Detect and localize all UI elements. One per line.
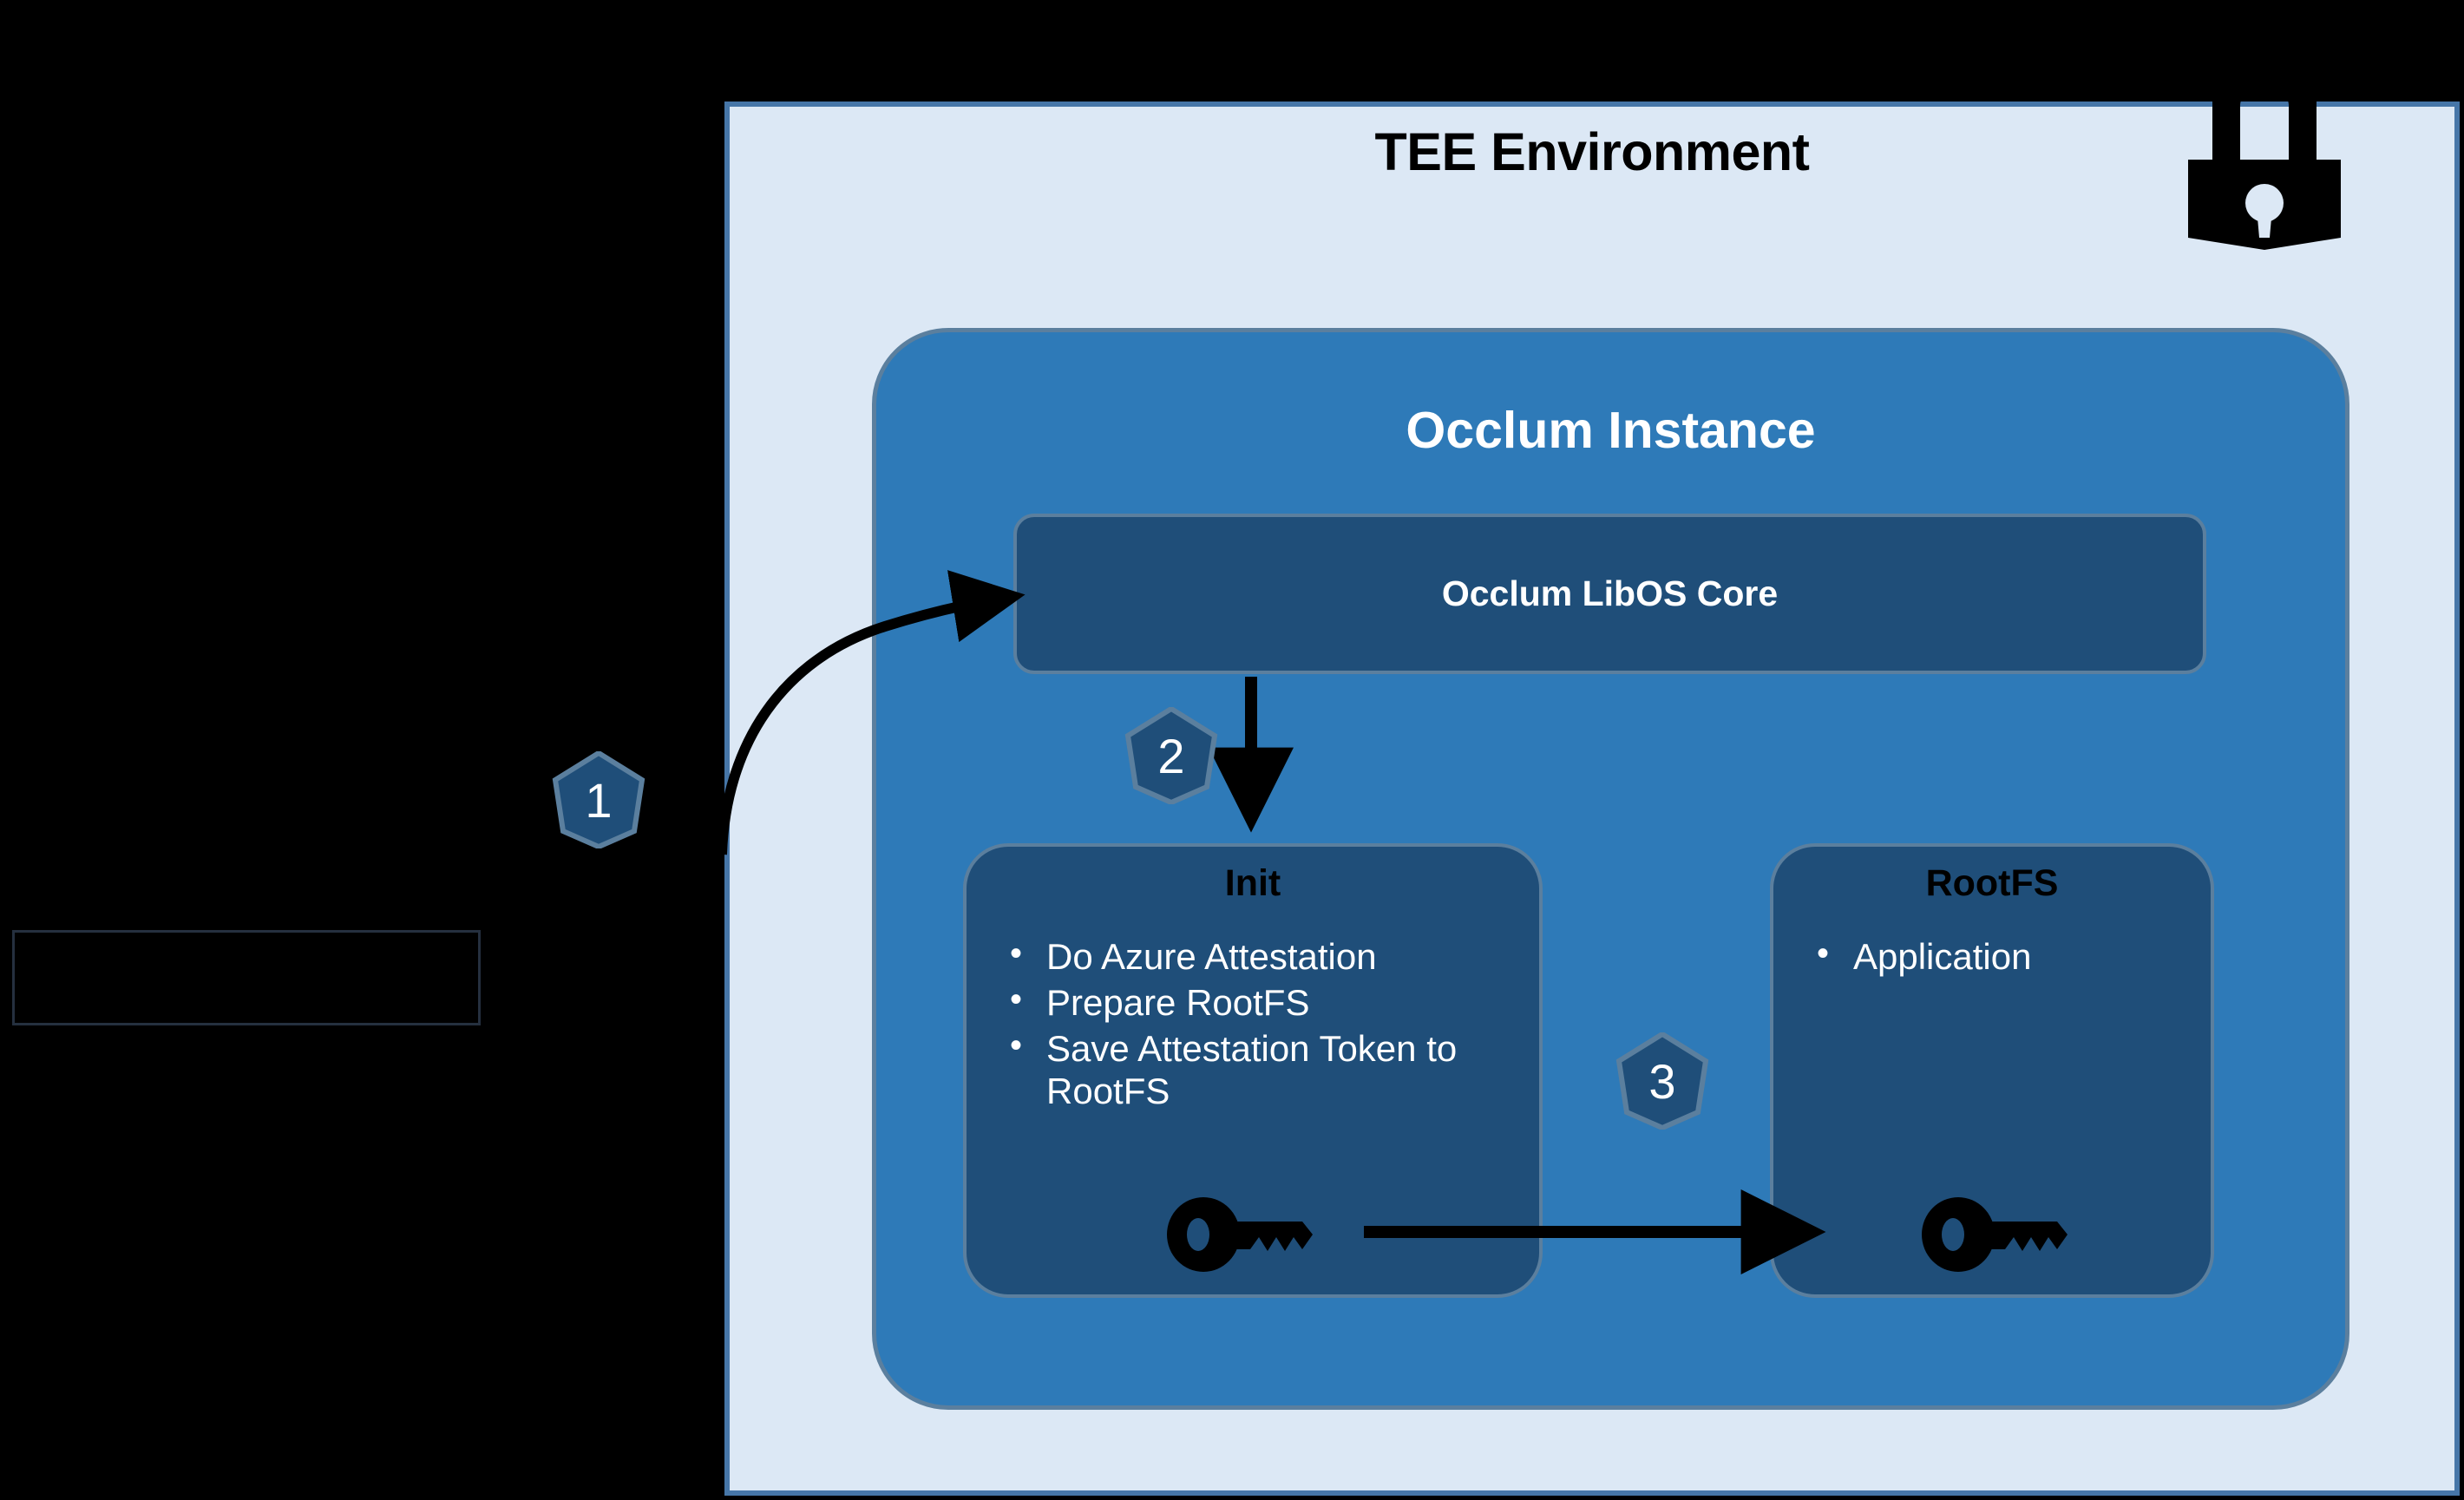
empty-outlined-rectangle — [12, 930, 481, 1025]
diagram-canvas: TEE Environment Occlum Instance Occlum L… — [0, 0, 2464, 1500]
rootfs-title: RootFS — [1770, 862, 2214, 905]
padlock-icon — [2169, 76, 2360, 260]
list-item: Application — [1803, 935, 2211, 978]
step-badge-3: 3 — [1612, 1032, 1713, 1130]
occlum-instance-title: Occlum Instance — [872, 401, 2349, 460]
step-badge-2: 2 — [1121, 707, 1222, 804]
step-badge-1-label: 1 — [548, 751, 649, 848]
list-item: Prepare RootFS — [996, 981, 1525, 1024]
step-badge-2-label: 2 — [1121, 707, 1222, 804]
key-icon — [1167, 1197, 1323, 1272]
init-title: Init — [963, 862, 1543, 905]
list-item: Do Azure Attestation — [996, 935, 1525, 978]
occlum-libos-core-title: Occlum LibOS Core — [1442, 573, 1778, 614]
init-bullet-list: Do Azure Attestation Prepare RootFS Save… — [996, 935, 1525, 1117]
list-item: Save Attestation Token to RootFS — [996, 1027, 1525, 1112]
step-badge-3-label: 3 — [1612, 1032, 1713, 1130]
rootfs-bullet-list: Application — [1803, 935, 2211, 981]
step-badge-1: 1 — [548, 751, 649, 848]
occlum-libos-core-box: Occlum LibOS Core — [1013, 514, 2206, 674]
key-icon — [1922, 1197, 2078, 1272]
